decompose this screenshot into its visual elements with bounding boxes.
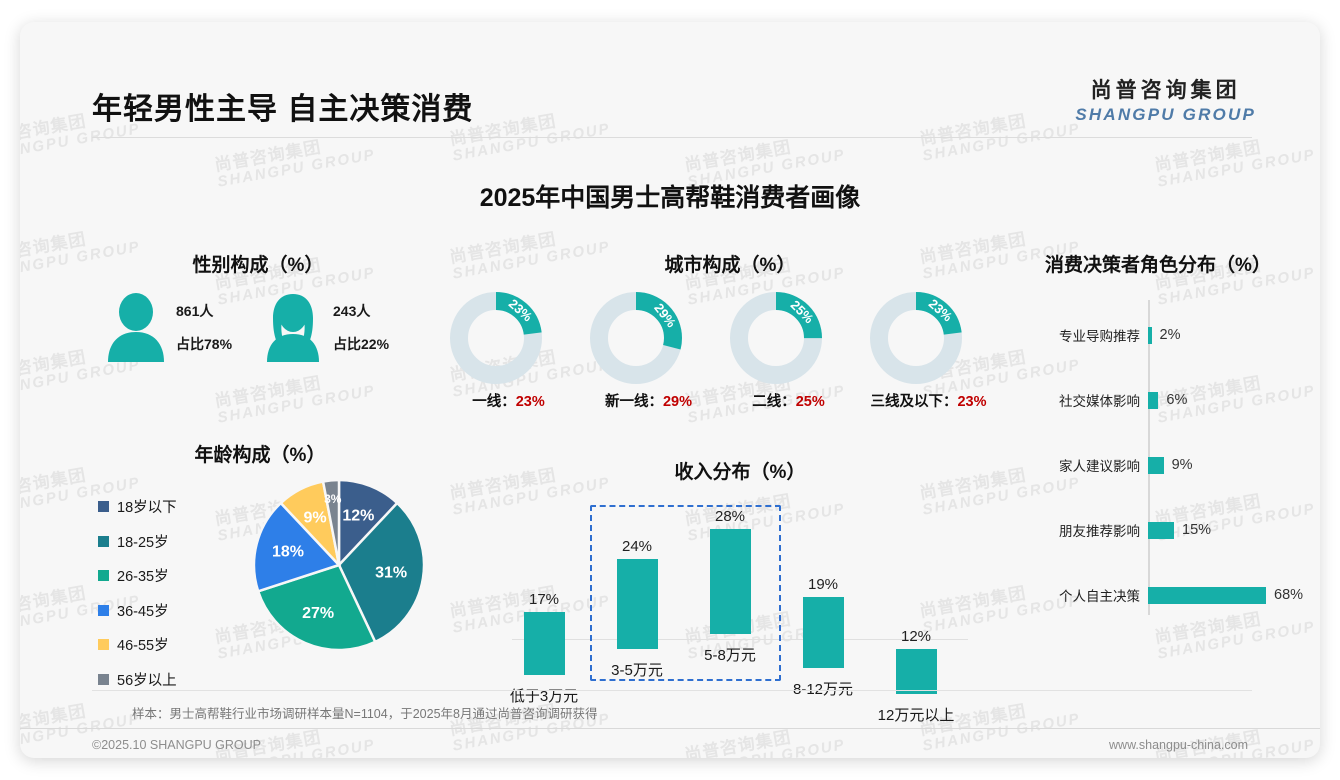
- legend-swatch: [98, 501, 109, 512]
- income-bar-rect: [896, 649, 937, 694]
- role-bar-wrap: 9%: [1148, 457, 1193, 474]
- income-title: 收入分布（%）: [480, 457, 1000, 484]
- income-bar-column: 12%12万元以上: [872, 549, 960, 682]
- city-donut-value: 25%: [796, 394, 825, 410]
- income-bar-value: 12%: [872, 628, 960, 645]
- role-bar-value: 6%: [1166, 392, 1187, 408]
- page-title: 年轻男性主导 自主决策消费: [92, 84, 473, 128]
- city-donut-label: 二线：25%: [726, 390, 851, 411]
- age-legend-item: 18岁以下: [98, 496, 177, 517]
- city-donut-value: 23%: [957, 394, 986, 410]
- role-label: 家人建议影响: [1008, 455, 1140, 475]
- age-legend-item: 26-35岁: [98, 565, 177, 586]
- pie-svg: 12%31%27%18%9%3%: [252, 478, 432, 658]
- legend-swatch: [98, 674, 109, 685]
- infographic-card: 尚普咨询集团SHANGPU GROUP尚普咨询集团SHANGPU GROUP尚普…: [20, 22, 1320, 758]
- role-row: 家人建议影响9%: [1008, 452, 1308, 478]
- income-bar-value: 17%: [500, 591, 588, 608]
- gender-male-count: 861人: [176, 295, 232, 328]
- role-label: 个人自主决策: [1008, 585, 1140, 605]
- income-bar-chart: 17%低于3万元24%3-5万元28%5-8万元19%8-12万元12%12万元…: [494, 497, 986, 682]
- role-bar-value: 9%: [1172, 457, 1193, 473]
- female-icon: [263, 292, 323, 364]
- footnote: 样本：男士高帮鞋行业市场调研样本量N=1104，于2025年8月通过尚普咨询调研…: [132, 703, 597, 722]
- gender-female-text: 243人 占比22%: [333, 295, 389, 361]
- role-bar-value: 68%: [1274, 587, 1303, 603]
- role-label: 专业导购推荐: [1008, 325, 1140, 345]
- male-icon: [106, 292, 166, 364]
- city-donut-value: 29%: [663, 394, 692, 410]
- gender-male-share: 占比78%: [176, 328, 232, 361]
- legend-swatch: [98, 570, 109, 581]
- role-bar-value: 2%: [1160, 327, 1181, 343]
- gender-section: 性别构成（%） 861人 占比78%: [88, 250, 428, 390]
- legend-label: 18-25岁: [117, 531, 169, 552]
- role-bar-rect: [1148, 392, 1158, 409]
- donut-svg: 23%: [446, 288, 546, 388]
- income-bar-rect: [803, 597, 844, 668]
- age-pie-chart: 12%31%27%18%9%3%: [252, 478, 432, 658]
- role-row: 个人自主决策68%: [1008, 582, 1308, 608]
- city-donut-label: 一线：23%: [446, 390, 571, 411]
- city-section: 城市构成（%） 23%一线：23%29%新一线：29%25%二线：25%23%三…: [440, 250, 1020, 400]
- donut-svg: 23%: [866, 288, 966, 388]
- donut-svg: 29%: [586, 288, 686, 388]
- copyright-text: ©2025.10 SHANGPU GROUP: [92, 738, 261, 752]
- income-bar-label: 12万元以上: [872, 704, 960, 725]
- age-legend-item: 18-25岁: [98, 531, 177, 552]
- role-bar-rect: [1148, 587, 1266, 604]
- roles-section: 消费决策者角色分布（%） 专业导购推荐2%社交媒体影响6%家人建议影响9%朋友推…: [1008, 250, 1308, 640]
- city-donut-value: 23%: [516, 394, 545, 410]
- age-legend-item: 46-55岁: [98, 634, 177, 655]
- gender-female-count: 243人: [333, 295, 389, 328]
- gender-item-male: 861人 占比78%: [106, 292, 232, 364]
- city-donut-三线及以下: 23%三线及以下：23%: [866, 288, 991, 411]
- city-donut-新一线: 29%新一线：29%: [586, 288, 711, 411]
- city-donut-一线: 23%一线：23%: [446, 288, 571, 411]
- role-bar-wrap: 2%: [1148, 327, 1180, 344]
- role-row: 朋友推荐影响15%: [1008, 517, 1308, 543]
- income-highlight-box: [590, 505, 781, 681]
- role-bar-value: 15%: [1182, 522, 1211, 538]
- city-donut-二线: 25%二线：25%: [726, 288, 851, 411]
- footer-divider: [20, 728, 1320, 729]
- age-legend: 18岁以下18-25岁26-35岁36-45岁46-55岁56岁以上: [98, 496, 177, 703]
- footnote-divider: [92, 690, 1252, 691]
- city-donut-label: 新一线：29%: [586, 390, 711, 411]
- role-bar-rect: [1148, 327, 1152, 344]
- legend-swatch: [98, 605, 109, 616]
- role-bar-rect: [1148, 457, 1164, 474]
- pie-label: 31%: [375, 565, 407, 582]
- page-header: 年轻男性主导 自主决策消费 尚普咨询集团 SHANGPU GROUP: [20, 22, 1320, 122]
- logo-en: SHANGPU GROUP: [1075, 105, 1256, 125]
- role-bar-wrap: 15%: [1148, 522, 1211, 539]
- logo-cn: 尚普咨询集团: [1075, 74, 1256, 104]
- age-section: 年龄构成（%） 18岁以下18-25岁26-35岁36-45岁46-55岁56岁…: [80, 440, 440, 680]
- income-bar-column: 17%低于3万元: [500, 530, 588, 682]
- pie-label: 18%: [272, 543, 304, 560]
- pie-label: 9%: [304, 510, 327, 527]
- roles-title: 消费决策者角色分布（%）: [1008, 250, 1308, 277]
- legend-swatch: [98, 536, 109, 547]
- gender-title: 性别构成（%）: [88, 250, 428, 277]
- income-bar-rect: [524, 612, 565, 676]
- role-label: 社交媒体影响: [1008, 390, 1140, 410]
- page-footer: ©2025.10 SHANGPU GROUP www.shangpu-china…: [20, 734, 1320, 758]
- city-donut-label: 三线及以下：23%: [866, 390, 991, 411]
- legend-label: 36-45岁: [117, 600, 169, 621]
- income-bar-value: 19%: [779, 576, 867, 593]
- age-title: 年龄构成（%）: [110, 440, 410, 467]
- legend-label: 46-55岁: [117, 634, 169, 655]
- donut-svg: 25%: [726, 288, 826, 388]
- legend-swatch: [98, 639, 109, 650]
- legend-label: 26-35岁: [117, 565, 169, 586]
- city-title: 城市构成（%）: [440, 250, 1020, 277]
- role-row: 专业导购推荐2%: [1008, 322, 1308, 348]
- header-divider: [92, 137, 1252, 138]
- role-bar-wrap: 6%: [1148, 392, 1187, 409]
- gender-item-female: 243人 占比22%: [263, 292, 389, 364]
- legend-label: 56岁以上: [117, 669, 177, 690]
- pie-label: 27%: [302, 605, 334, 622]
- role-bar-rect: [1148, 522, 1174, 539]
- pie-label: 3%: [324, 492, 342, 506]
- gender-female-share: 占比22%: [333, 328, 389, 361]
- gender-male-text: 861人 占比78%: [176, 295, 232, 361]
- legend-label: 18岁以下: [117, 496, 177, 517]
- role-row: 社交媒体影响6%: [1008, 387, 1308, 413]
- website-url[interactable]: www.shangpu-china.com: [1109, 738, 1248, 752]
- age-legend-item: 56岁以上: [98, 669, 177, 690]
- income-bar-column: 19%8-12万元: [779, 523, 867, 682]
- income-section: 收入分布（%） 17%低于3万元24%3-5万元28%5-8万元19%8-12万…: [480, 457, 1000, 682]
- brand-logo: 尚普咨询集团 SHANGPU GROUP: [1075, 74, 1256, 125]
- income-bar-label: 8-12万元: [779, 678, 867, 699]
- pie-label: 12%: [342, 508, 374, 525]
- age-legend-item: 36-45岁: [98, 600, 177, 621]
- role-label: 朋友推荐影响: [1008, 520, 1140, 540]
- chart-title: 2025年中国男士高帮鞋消费者画像: [20, 178, 1320, 214]
- role-bar-wrap: 68%: [1148, 587, 1303, 604]
